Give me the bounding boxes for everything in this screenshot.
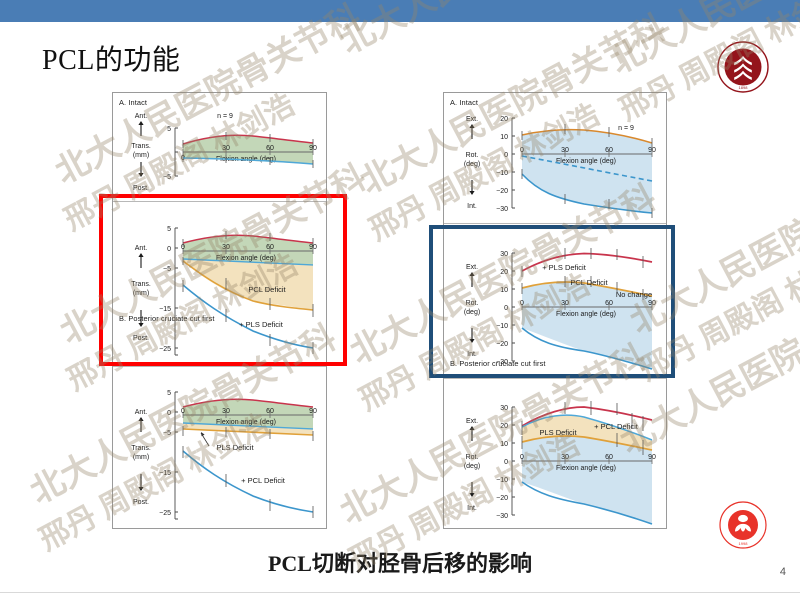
left-c-label-pls-deficit: PLS Deficit	[216, 443, 254, 452]
axis-label-post: Post.	[133, 185, 149, 192]
ytick-5: 5	[167, 390, 171, 397]
axis-label-deg: (deg)	[464, 161, 480, 168]
xtick-90: 90	[648, 147, 656, 154]
ytick-neg5: −5	[163, 430, 171, 437]
axis-label-trans: Trans.	[131, 143, 151, 150]
axis-label-deg: (deg)	[464, 463, 480, 470]
axis-label-rot: Rot.	[466, 454, 479, 461]
page-number: 4	[780, 566, 786, 578]
ytick-10: 10	[500, 134, 508, 141]
page-title: PCL的功能	[42, 38, 180, 78]
ytick-30: 30	[500, 405, 508, 412]
bottom-divider	[0, 592, 800, 593]
xtick-0: 0	[520, 454, 524, 461]
ytick-neg5: −5	[163, 174, 171, 181]
peking-university-logo: 1898	[716, 40, 770, 94]
axis-label-int: Int.	[467, 203, 477, 210]
ytick-neg15: −15	[159, 470, 171, 477]
ytick-neg30: −30	[496, 513, 508, 520]
slide-caption: PCL切断对胫骨后移的影响	[0, 546, 800, 578]
ytick-0: 0	[504, 152, 508, 159]
xtick-60: 60	[605, 454, 613, 461]
ytick-neg20: −20	[496, 495, 508, 502]
ytick-20: 20	[500, 116, 508, 123]
xtick-30: 30	[561, 454, 569, 461]
axis-label-ext: Ext.	[466, 418, 478, 425]
left-panel-a-plot: Ant. Trans. (mm) Post. 5 −5 0 30	[113, 106, 326, 201]
axis-label-ant: Ant.	[135, 409, 148, 416]
right-c-label-pls-deficit: PLS Deficit	[539, 428, 577, 437]
axis-label-post: Post.	[133, 499, 149, 506]
ytick-20: 20	[500, 423, 508, 430]
right-c-label-pcl-deficit: + PCL Deficit	[594, 422, 639, 431]
right-a-n-annotation: n = 9	[618, 125, 634, 132]
axis-label-int: Int.	[467, 505, 477, 512]
right-panel-c-plot: Ext. Rot. (deg) Int. 30 20 10 0 −10 −20 …	[444, 391, 666, 533]
ytick-0: 0	[504, 459, 508, 466]
axis-label-ant: Ant.	[135, 113, 148, 120]
xtick-90: 90	[648, 454, 656, 461]
axis-label-trans: Trans.	[131, 445, 151, 452]
left-panel-c-plot: Ant. Trans. (mm) Post. 5 0 −5 −15 −25 0 …	[113, 378, 326, 530]
right-panel-a-plot: Ext. Rot. (deg) Int. 20 10 0 −10 −20 −30…	[444, 107, 666, 225]
ytick-neg20: −20	[496, 188, 508, 195]
xtick-0: 0	[520, 147, 524, 154]
xtick-60: 60	[266, 408, 274, 415]
blue-highlight-box[interactable]	[429, 225, 675, 378]
arthritis-center-logo: 1998	[718, 500, 768, 550]
left-panel-a: A. Intact Ant. Trans. (mm) Post. 5 −5	[113, 93, 326, 201]
pku-logo-year: 1898	[739, 85, 749, 90]
axis-label-mm: (mm)	[133, 152, 149, 159]
axis-label-rot: Rot.	[466, 152, 479, 159]
left-a-n-annotation: n = 9	[217, 113, 233, 120]
ytick-neg10: −10	[496, 170, 508, 177]
axis-label-mm: (mm)	[133, 454, 149, 461]
band-intact-envelope	[522, 436, 652, 524]
xtick-90: 90	[309, 408, 317, 415]
left-c-label-pcl-deficit: + PCL Deficit	[241, 476, 286, 485]
ytick-neg10: −10	[496, 477, 508, 484]
ytick-neg25: −25	[159, 510, 171, 517]
ytick-neg30: −30	[496, 206, 508, 213]
xtick-60: 60	[266, 145, 274, 152]
ytick-0: 0	[167, 410, 171, 417]
ytick-10: 10	[500, 441, 508, 448]
band-intact-envelope	[522, 130, 652, 213]
xtick-30: 30	[222, 145, 230, 152]
xtick-30: 30	[222, 408, 230, 415]
axis-label-ext: Ext.	[466, 116, 478, 123]
slide-canvas: PCL的功能 A. Intact Ant. Trans. (mm) Post. …	[0, 0, 800, 600]
xtick-60: 60	[605, 147, 613, 154]
xtick-0: 0	[181, 408, 185, 415]
red-highlight-box[interactable]	[99, 194, 347, 366]
right-c-xlabel: Flexion angle (deg)	[556, 465, 616, 472]
ytick-5: 5	[167, 126, 171, 133]
right-panel-a-title: A. Intact	[450, 98, 478, 107]
xtick-30: 30	[561, 147, 569, 154]
top-banner	[0, 0, 800, 22]
